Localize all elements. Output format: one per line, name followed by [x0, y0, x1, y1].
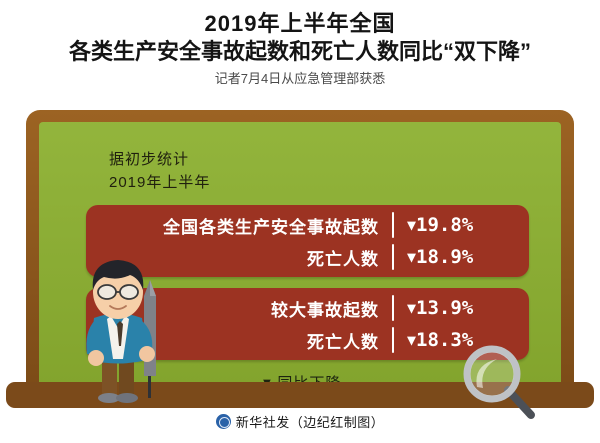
row-percent: 18.9%: [416, 246, 473, 268]
row-divider: [392, 212, 394, 238]
glasses-left-lens: [98, 285, 116, 299]
row-percent: 19.8%: [416, 214, 473, 236]
data-row: 全国各类生产安全事故起数 ▼19.8%: [163, 208, 515, 242]
row-percent: 13.9%: [416, 297, 473, 319]
presenter-illustration: [72, 258, 168, 405]
down-triangle-icon: ▼: [407, 299, 416, 317]
xinhua-logo-icon: [216, 414, 231, 429]
board-note-line-2: 2019年上半年: [109, 171, 210, 194]
row-value: ▼13.9%: [407, 297, 515, 319]
row-label: 全国各类生产安全事故起数: [163, 213, 379, 238]
down-triangle-icon: ▼: [407, 216, 416, 234]
page-subtitle: 记者7月4日从应急管理部获悉: [0, 71, 600, 88]
row-label: 死亡人数: [307, 245, 379, 270]
row-label: 较大事故起数: [271, 296, 379, 321]
page-title-line-1: 2019年上半年全国: [0, 10, 600, 38]
data-row: 死亡人数 ▼18.9%: [307, 240, 515, 274]
board-note-line-1: 据初步统计: [109, 148, 210, 171]
row-divider: [392, 244, 394, 270]
shoe-right: [116, 393, 138, 403]
row-label: 死亡人数: [307, 328, 379, 353]
down-triangle-icon: ▼: [407, 248, 416, 266]
page-title-line-2: 各类生产安全事故起数和死亡人数同比“双下降”: [0, 38, 600, 66]
magnifier-lens: [470, 352, 514, 396]
row-divider: [392, 295, 394, 321]
data-row: 较大事故起数 ▼13.9%: [271, 291, 515, 325]
down-triangle-icon: ▼: [407, 331, 416, 349]
hand-left: [88, 350, 104, 366]
row-value: ▼18.9%: [407, 246, 515, 268]
board-note: 据初步统计 2019年上半年: [109, 148, 210, 195]
magnifier-icon: [455, 345, 545, 420]
glasses-right-lens: [120, 285, 138, 299]
title-block: 2019年上半年全国 各类生产安全事故起数和死亡人数同比“双下降” 记者7月4日…: [0, 0, 600, 88]
row-value: ▼19.8%: [407, 214, 515, 236]
hand-right: [139, 346, 155, 362]
infographic-canvas: 2019年上半年全国 各类生产安全事故起数和死亡人数同比“双下降” 记者7月4日…: [0, 0, 600, 443]
credit-line: 新华社发（边纪红制图）: [0, 412, 600, 431]
row-divider: [392, 327, 394, 353]
credit-text: 新华社发（边纪红制图）: [236, 412, 385, 431]
